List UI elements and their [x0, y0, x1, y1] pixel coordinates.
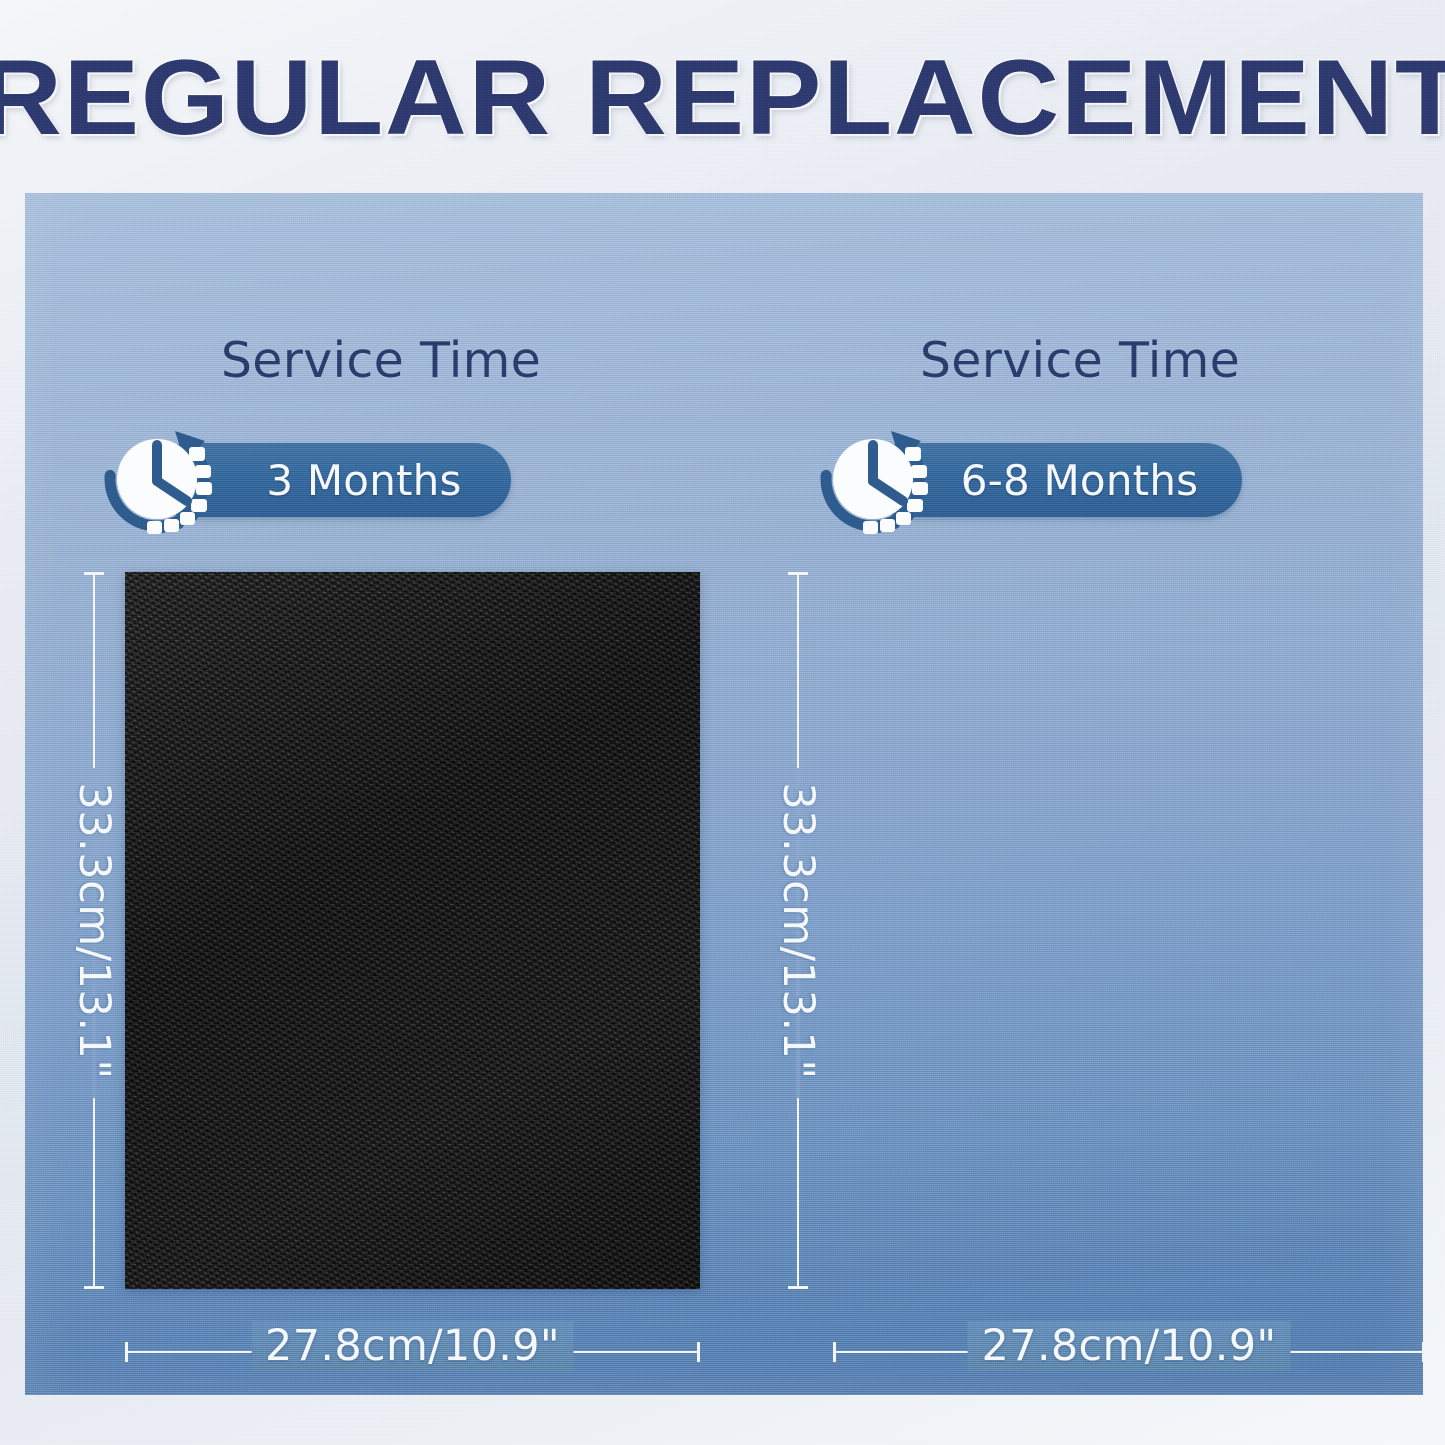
dimension-cap-top	[788, 572, 808, 575]
service-time-label-carbon: Service Time	[25, 332, 819, 389]
page-title: REGULAR REPLACEMENT	[0, 35, 1445, 159]
width-dimension-line-hepa: 27.8cm/10.9"	[833, 1351, 1425, 1353]
service-time-label-hepa: Service Time	[737, 332, 1445, 389]
column-hepa-filter: Service Time 6-8 Months	[737, 193, 1423, 1395]
dimension-cap-bottom	[84, 1286, 104, 1289]
duration-text-hepa: 6-8 Months	[911, 456, 1198, 505]
height-dimension-label-carbon: 33.3cm/13.1"	[69, 782, 119, 1079]
dimension-cap-right	[697, 1342, 700, 1362]
carbon-filter-image	[125, 572, 700, 1289]
height-dimension-line-carbon: 33.3cm/13.1"	[93, 572, 95, 1289]
service-badge-carbon: 3 Months	[101, 421, 511, 537]
dimension-cap-bottom	[788, 1286, 808, 1289]
dimension-cap-right	[1422, 1342, 1425, 1362]
content-panel: Service Time 3 Months	[25, 193, 1423, 1395]
infographic-canvas: REGULAR REPLACEMENT Service Time 3 Month…	[0, 0, 1445, 1445]
column-carbon-filter: Service Time 3 Months	[25, 193, 737, 1395]
dimension-cap-left	[125, 1342, 128, 1362]
height-dimension-label-hepa: 33.3cm/13.1"	[773, 782, 823, 1079]
clock-refresh-gear-icon	[101, 421, 217, 537]
service-badge-hepa: 6-8 Months	[817, 421, 1242, 537]
clock-refresh-gear-icon	[817, 421, 933, 537]
width-dimension-label-carbon: 27.8cm/10.9"	[251, 1321, 574, 1371]
title-band: REGULAR REPLACEMENT	[0, 0, 1445, 193]
duration-text-carbon: 3 Months	[200, 456, 461, 505]
width-dimension-label-hepa: 27.8cm/10.9"	[968, 1321, 1291, 1371]
dimension-cap-top	[84, 572, 104, 575]
width-dimension-line-carbon: 27.8cm/10.9"	[125, 1351, 700, 1353]
dimension-cap-left	[833, 1342, 836, 1362]
height-dimension-line-hepa: 33.3cm/13.1"	[797, 572, 799, 1289]
